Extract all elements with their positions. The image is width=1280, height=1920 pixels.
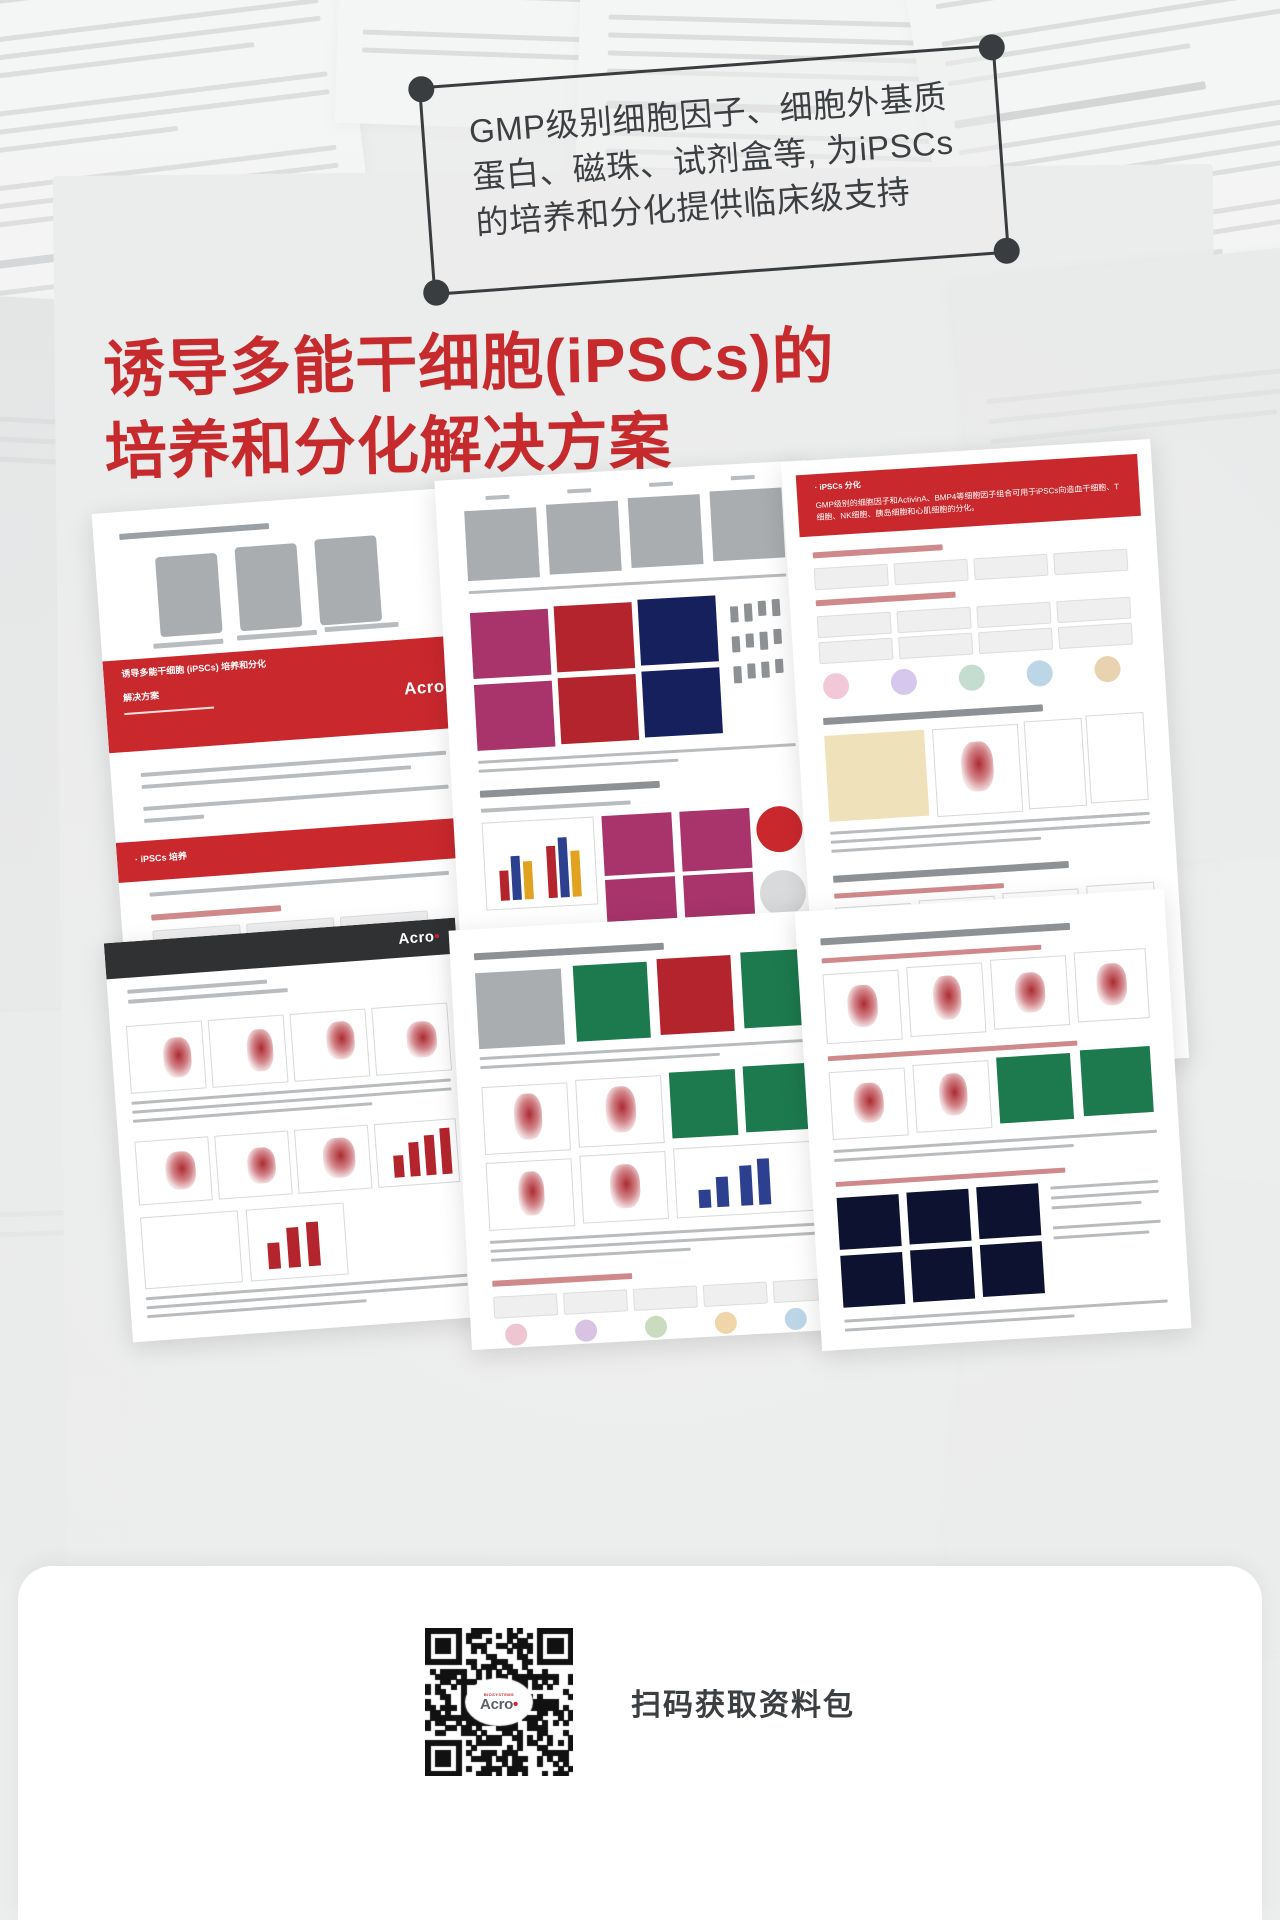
qr-logo-text: Acro xyxy=(480,1696,513,1713)
poster-root: GMP级别细胞因子、细胞外基质 蛋白、磁珠、试剂盒等, 为iPSCs 的培养和分… xyxy=(0,0,1280,1920)
cover2-logo-text: Acro xyxy=(398,928,435,948)
qr-row: BIOSYSTEMS Acro• 扫码获取资料包 xyxy=(18,1628,1262,1776)
qr-center-logo: BIOSYSTEMS Acro• xyxy=(468,1680,530,1724)
footer-panel: BIOSYSTEMS Acro• 扫码获取资料包 xyxy=(18,1566,1262,1920)
cover-section-1: · iPSCs 培养 xyxy=(135,851,188,865)
brochure-cover-page-2[interactable]: Acro• xyxy=(104,918,484,1343)
qr-label: 扫码获取资料包 xyxy=(631,1680,855,1724)
cover-logo-text: Acro xyxy=(403,677,445,699)
qr-code[interactable]: BIOSYSTEMS Acro• xyxy=(425,1628,573,1776)
page-title-line-1: 诱导多能干细胞(iPSCs)的 xyxy=(103,322,836,405)
brochure-thumbnails: 诱导多能干细胞 (iPSCs) 培养和分化 解决方案 Acro• · iPSCs… xyxy=(0,430,1280,1310)
callout: GMP级别细胞因子、细胞外基质 蛋白、磁珠、试剂盒等, 为iPSCs 的培养和分… xyxy=(425,65,1003,275)
brochure-page-middle-2[interactable] xyxy=(449,910,844,1350)
brochure-page-right-2[interactable] xyxy=(795,889,1192,1351)
